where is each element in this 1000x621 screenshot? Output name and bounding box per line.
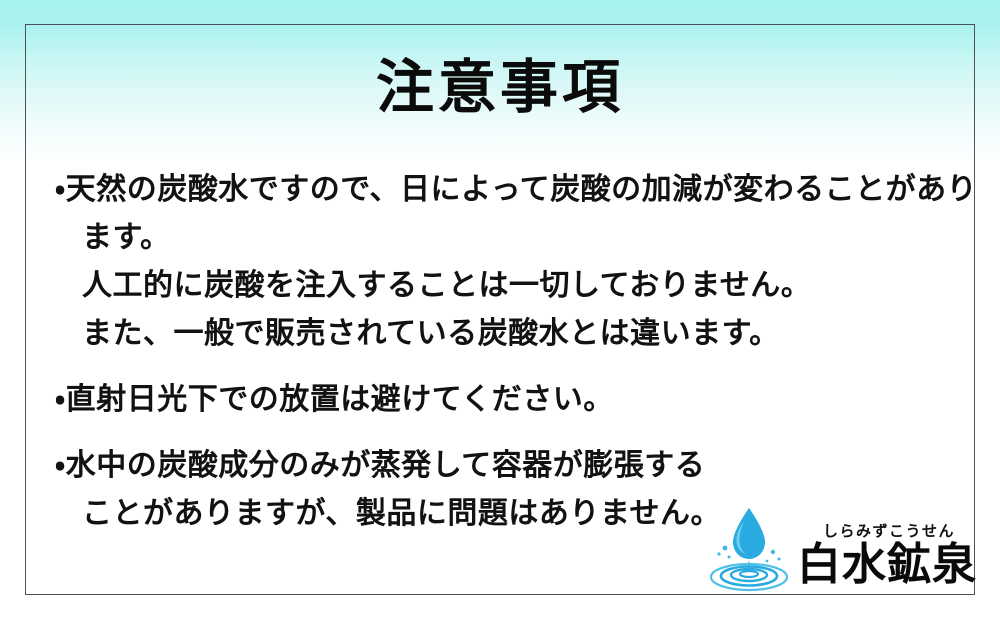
brand-wordmark: しらみずこうせん 白水鉱泉 bbox=[795, 523, 977, 592]
notice-line: ます。 bbox=[55, 214, 955, 262]
notice-line: 水中の炭酸成分のみが蒸発して容器が膨張する bbox=[55, 442, 955, 490]
notice-line: 天然の炭酸水ですので、日によって炭酸の加減が変わることがあり bbox=[55, 166, 955, 214]
notice-item: 直射日光下での放置は避けてください。 bbox=[55, 376, 955, 424]
brand-furigana: しらみずこうせん bbox=[797, 523, 977, 540]
notice-line: 人工的に炭酸を注入することは一切しておりません。 bbox=[55, 262, 955, 310]
water-droplet-icon bbox=[703, 502, 795, 592]
page-title: 注意事項 bbox=[0, 52, 1000, 124]
brand-name: 白水鉱泉 bbox=[797, 540, 977, 590]
notice-body: 天然の炭酸水ですので、日によって炭酸の加減が変わることがあり ます。 人工的に炭… bbox=[55, 166, 955, 538]
brand-logo: しらみずこうせん 白水鉱泉 bbox=[703, 500, 965, 592]
notice-line: 直射日光下での放置は避けてください。 bbox=[55, 376, 955, 424]
notice-poster: 注意事項 天然の炭酸水ですので、日によって炭酸の加減が変わることがあり ます。 … bbox=[0, 0, 1000, 621]
notice-item: 天然の炭酸水ですので、日によって炭酸の加減が変わることがあり ます。 人工的に炭… bbox=[55, 166, 955, 358]
notice-line: また、一般で販売されている炭酸水とは違います。 bbox=[55, 310, 955, 358]
